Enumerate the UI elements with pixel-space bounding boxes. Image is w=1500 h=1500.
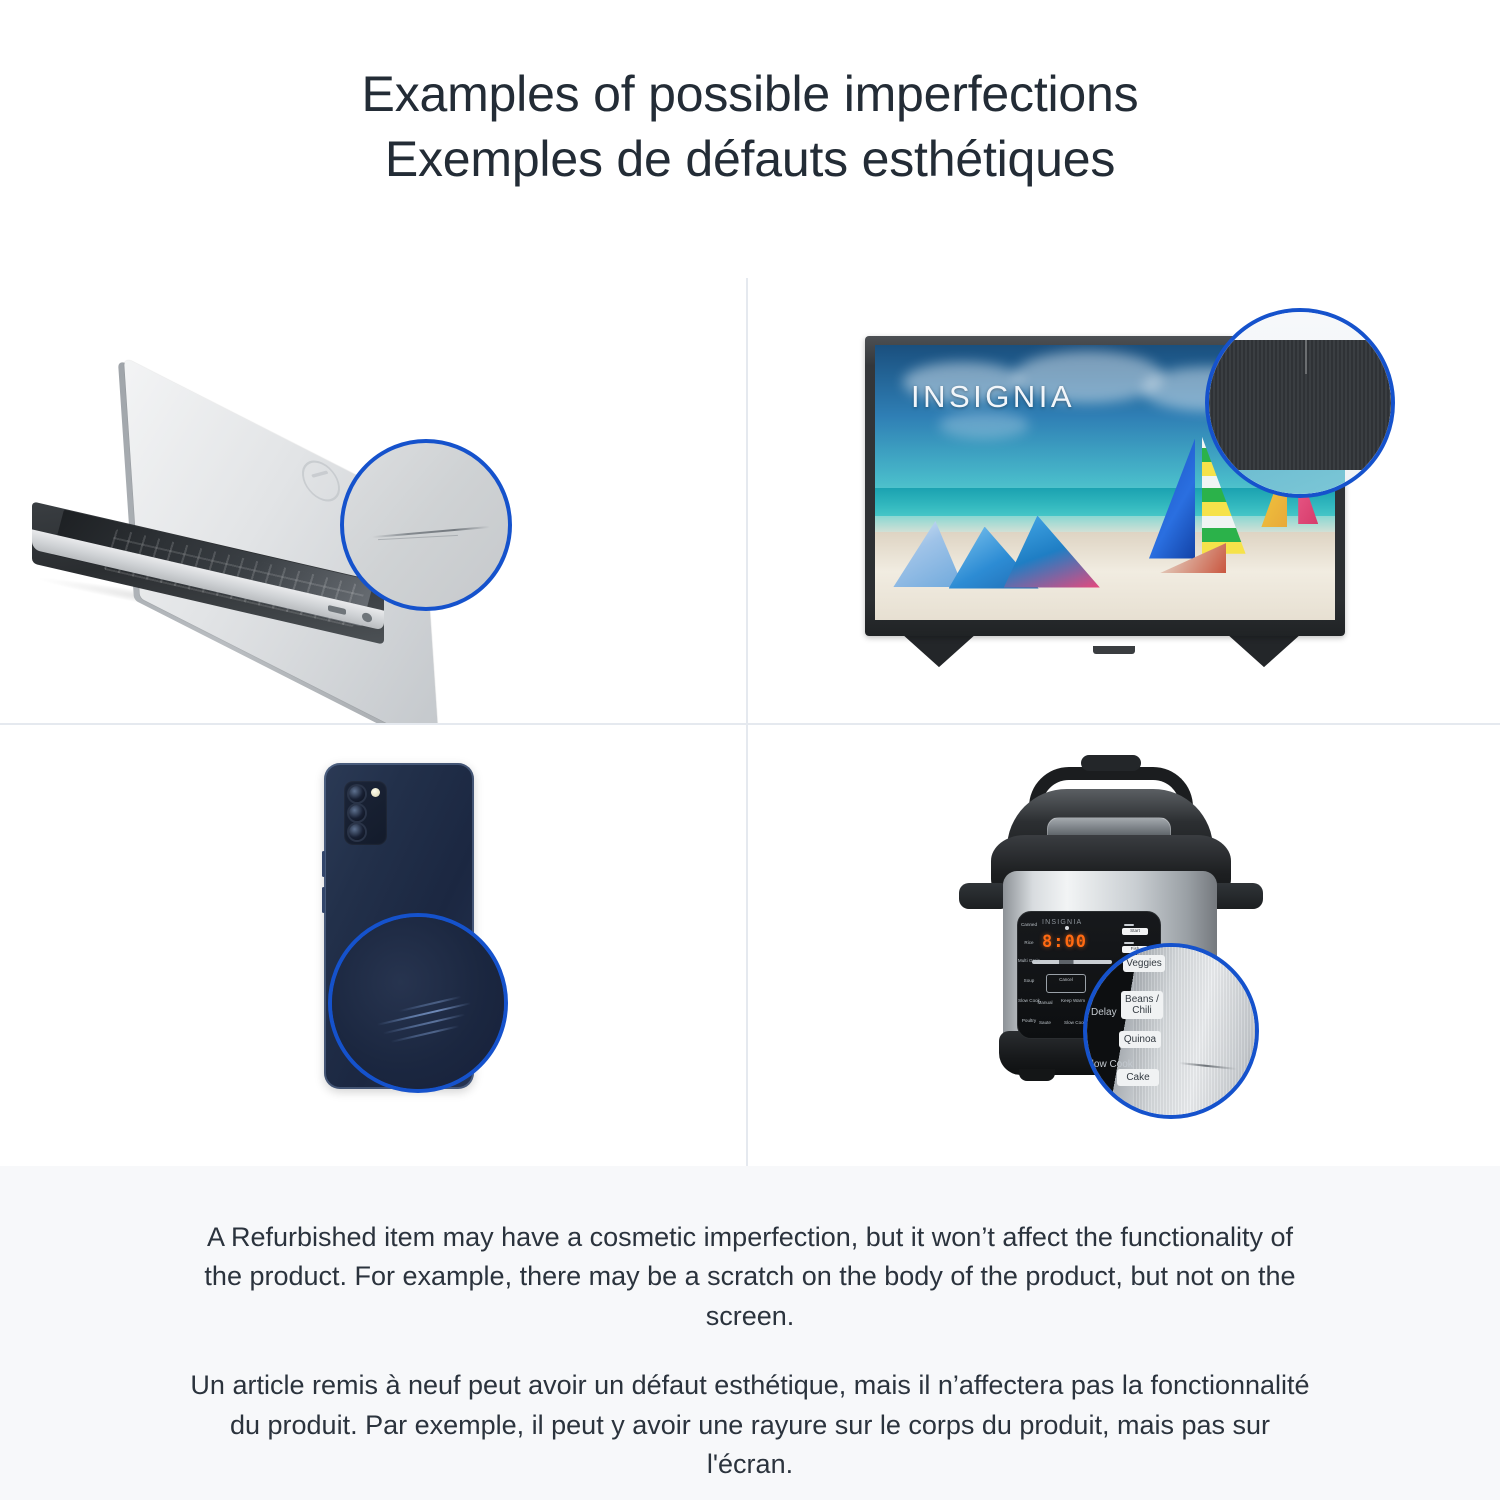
cooker-foot — [1019, 1069, 1055, 1081]
phone-power-button — [322, 887, 325, 913]
tv-illustration: INSIGNIA — [748, 278, 1500, 723]
tv-bubble-bezel-seam — [1305, 340, 1307, 374]
phone-defect-zoom-bubble — [328, 913, 508, 1093]
footer-description: A Refurbished item may have a cosmetic i… — [0, 1166, 1500, 1500]
phone-camera-module — [344, 781, 387, 845]
cooker-btn-tick — [1124, 942, 1134, 944]
cooker-left-btn-1[interactable]: Canned — [1016, 922, 1042, 929]
cooker-btn-tick — [1124, 924, 1134, 926]
camera-flash-icon — [371, 788, 380, 797]
tv-screen-brand-logo: INSIGNIA — [911, 379, 1075, 415]
cooker-panel-indicator — [1065, 926, 1069, 930]
camera-lens-icon — [349, 786, 365, 802]
example-panel-pressure-cooker: INSIGNIA 8:00 Cancel Canned Rice Multi G… — [748, 725, 1500, 1166]
cooker-bubble-label-delay: Delay — [1091, 1007, 1117, 1018]
cooker-ctrl-saute[interactable]: Saute — [1032, 1020, 1058, 1027]
cooker-bubble-background — [1087, 947, 1255, 1115]
cooker-left-btn-2[interactable]: Rice — [1016, 940, 1042, 947]
phone-volume-button — [322, 851, 325, 877]
page-title-fr: Exemples de défauts esthétiques — [0, 127, 1500, 192]
example-panel-tv: INSIGNIA — [748, 278, 1500, 725]
camera-lens-icon — [349, 805, 365, 821]
footer-paragraph-fr: Un article remis à neuf peut avoir un dé… — [190, 1366, 1310, 1484]
page-title-en: Examples of possible imperfections — [0, 62, 1500, 127]
cooker-ctrl-manual[interactable]: Manual — [1032, 1000, 1058, 1007]
footer-paragraph-en: A Refurbished item may have a cosmetic i… — [190, 1218, 1310, 1336]
cooker-handle-knob — [1081, 755, 1141, 771]
pressure-cooker-illustration: INSIGNIA 8:00 Cancel Canned Rice Multi G… — [748, 725, 1500, 1166]
cooker-left-btn-4[interactable]: Soup — [1016, 978, 1042, 985]
cooker-btn-start[interactable]: Start — [1122, 928, 1148, 935]
cooker-ctrl-keep-warm[interactable]: Keep Warm — [1060, 998, 1086, 1005]
cooker-bubble-btn-cake[interactable]: Cake — [1117, 1069, 1159, 1086]
cooker-panel-brand: INSIGNIA — [1042, 919, 1082, 926]
phone-bubble-background — [332, 917, 504, 1089]
laptop-defect-zoom-bubble — [340, 439, 512, 611]
example-panel-laptop — [0, 278, 748, 725]
cooker-left-btn-3[interactable]: Multi Grain — [1016, 958, 1042, 965]
tv-logo-nub — [1093, 646, 1135, 654]
cooker-mode-box[interactable]: Cancel — [1046, 974, 1086, 993]
cooker-side-handle-left — [959, 883, 1005, 909]
tv-stand-left — [903, 635, 975, 667]
tv-defect-zoom-bubble — [1205, 308, 1395, 498]
example-panel-phone — [0, 725, 748, 1166]
tv-stand-right — [1228, 635, 1300, 667]
cooker-bubble-btn-quinoa[interactable]: Quinoa — [1119, 1031, 1161, 1048]
phone-illustration — [0, 725, 746, 1166]
product-examples-grid: INSIGNIA — [0, 278, 1500, 1166]
cloud-shape — [939, 411, 1029, 439]
tv-bubble-bezel-corner — [1205, 340, 1395, 470]
cooker-bubble-btn-veggies[interactable]: Veggies — [1123, 955, 1165, 972]
page-header: Examples of possible imperfections Exemp… — [0, 0, 1500, 192]
camera-lens-icon — [349, 824, 365, 840]
cooker-bubble-btn-beans-chili[interactable]: Beans / Chili — [1121, 991, 1163, 1019]
laptop-illustration — [0, 278, 746, 723]
cooker-defect-zoom-bubble: Delay Slow Cook Veggies Beans / Chili Qu… — [1083, 943, 1259, 1119]
